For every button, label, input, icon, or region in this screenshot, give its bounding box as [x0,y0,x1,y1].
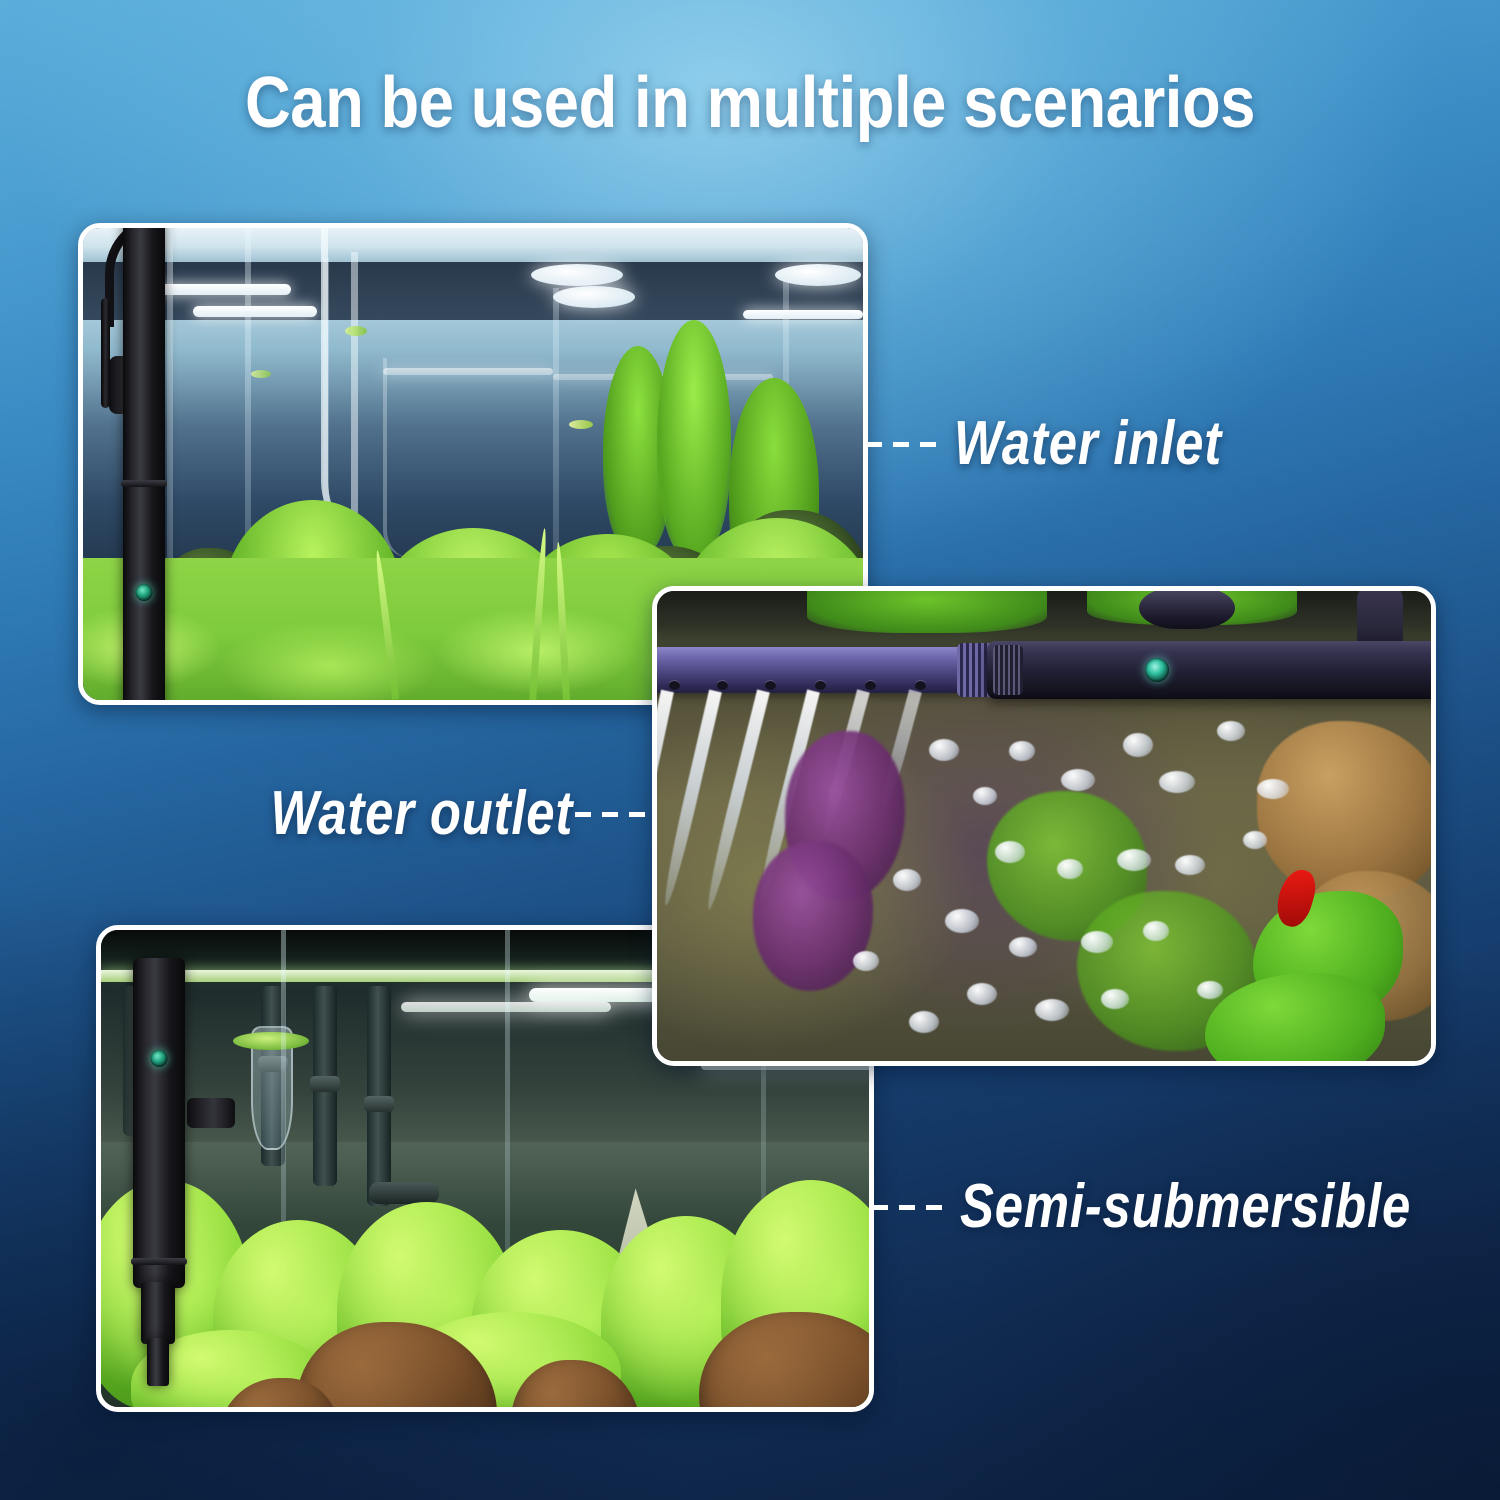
callout-label-semi-submersible: Semi-submersible [960,1176,1411,1238]
water-highlight-10 [1057,859,1083,879]
background-pipe-elbow [369,1182,439,1204]
water-highlight-5 [1123,733,1153,757]
leader-line-water-inlet [866,442,940,447]
water-highlight-12 [1175,855,1205,875]
filter-body-bottom [133,958,185,1288]
co2-diffuser-plate [233,1032,309,1050]
water-highlight-15 [1009,937,1037,957]
spray-hole-5 [865,681,876,690]
pipe-joint-3 [364,1096,394,1112]
water-highlight-7 [1217,721,1245,741]
spray-hole-2 [717,681,728,690]
aquarium-light-bar-1 [161,284,291,295]
background-pipe-2 [313,986,337,1186]
water-highlight-18 [967,983,997,1005]
fish-1 [569,420,593,429]
water-highlight-23 [1197,981,1223,999]
water-highlight-3 [1009,741,1035,761]
filter-body-top [123,228,165,700]
aquarium-light-disc-3 [775,264,861,286]
filter-nozzle-bottom [141,1282,175,1344]
water-highlight-22 [853,951,879,971]
fish-2 [345,326,367,336]
background-plant-2 [657,320,731,560]
photo-middle-spray-bar [652,586,1436,1066]
aquarium-light-disc-2 [553,286,635,308]
callout-semi-submersible: Semi-submersible [872,1176,1500,1238]
filter-ring-top-1 [121,480,167,487]
water-highlight-21 [909,1011,939,1033]
page-title: Can be used in multiple scenarios [90,62,1410,144]
water-highlight-16 [1081,931,1113,953]
fish-3 [251,370,271,378]
filter-led-indicator-middle [1145,658,1169,682]
filter-body-middle [987,641,1431,699]
water-highlight-13 [893,869,921,891]
filter-nozzle-tip-bottom [147,1338,169,1386]
aquarium-hose-3 [383,358,411,558]
background-pipe-3 [367,986,391,1206]
aquarium-light-disc-1 [531,264,623,286]
filter-intake-grill-middle [993,645,1023,695]
pipe-joint-2 [310,1076,340,1092]
spray-hole-1 [669,681,680,690]
background-foliage-middle [807,591,1047,633]
aquarium-light-bar-3 [743,310,863,319]
tank-rim-top [83,228,863,262]
water-highlight-2 [973,787,997,805]
water-highlight-17 [1143,921,1169,941]
spray-bar-middle [657,647,987,693]
water-highlight-19 [1035,999,1069,1021]
callout-water-outlet: Water outlet [204,783,649,845]
water-highlight-14 [945,909,979,933]
filter-mounting-clip-bottom [187,1098,235,1128]
spray-hole-6 [915,681,926,690]
water-highlight-9 [995,841,1025,863]
filter-led-indicator-top [136,584,153,601]
leader-line-semi-submersible [872,1205,946,1210]
infographic-canvas: Can be used in multiple scenarios [0,0,1500,1500]
filter-suction-cup-middle [1139,591,1235,629]
callout-label-water-inlet: Water inlet [954,413,1222,475]
photo-middle-scene [657,591,1431,1061]
water-highlight-6 [1159,771,1195,793]
water-highlight-4 [1061,769,1095,791]
purple-moss-2 [753,841,873,991]
callout-water-inlet: Water inlet [866,413,1281,475]
spray-hole-3 [765,681,776,690]
callout-label-water-outlet: Water outlet [270,783,573,845]
water-highlight-11 [1117,849,1151,871]
water-highlight-24 [1243,831,1267,849]
spray-hole-4 [815,681,826,690]
water-highlight-1 [929,739,959,761]
water-highlight-8 [1257,779,1289,799]
water-highlight-20 [1101,989,1129,1009]
filter-ring-bottom-1 [131,1258,187,1265]
leader-line-water-outlet [575,812,649,817]
filter-led-indicator-bottom [151,1050,168,1067]
aquarium-light-bar-2 [193,306,317,317]
